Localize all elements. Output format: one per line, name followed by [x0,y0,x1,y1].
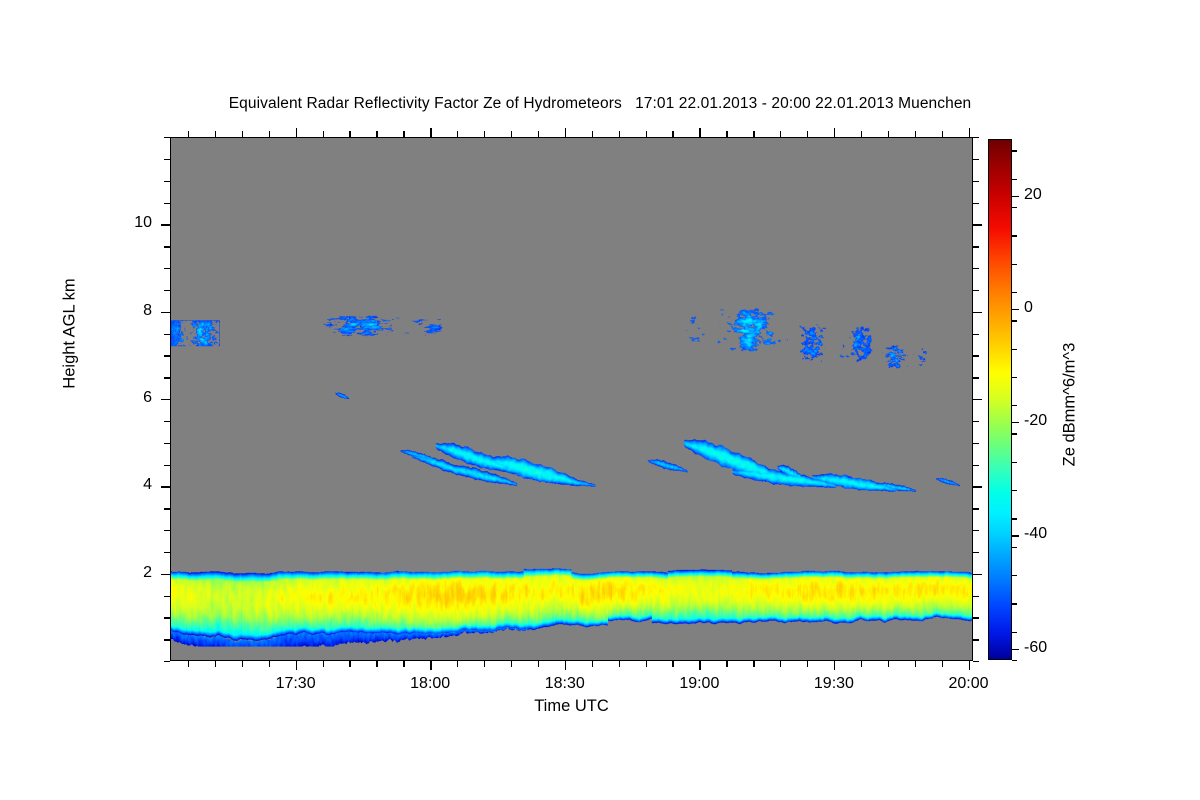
y-axis-label: Height AGL km [61,204,80,464]
y-axis-minor-tick [164,203,170,204]
colorbar-minor-tick [1012,433,1017,434]
x-axis-minor-tick [538,131,539,137]
y-axis-tick-label: 10 [92,214,152,232]
y-axis-major-tick [161,574,170,575]
colorbar-tick-label: 0 [1024,299,1033,317]
x-axis-minor-tick [242,131,243,137]
y-axis-minor-tick [164,268,170,269]
y-axis-major-tick [161,399,170,400]
colorbar [988,139,1012,660]
reflectivity-heatmap [171,138,972,660]
colorbar-minor-tick [1012,632,1017,633]
x-axis-major-tick [565,128,566,137]
y-axis-minor-tick [164,530,170,531]
y-axis-minor-tick [973,552,979,553]
colorbar-minor-tick [1012,349,1017,350]
y-axis-minor-tick [973,203,979,204]
y-axis-minor-tick [164,137,170,138]
x-axis-minor-tick [726,131,727,137]
y-axis-minor-tick [164,355,170,356]
y-axis-minor-tick [164,596,170,597]
x-axis-minor-tick [215,131,216,137]
colorbar-tick-label: -20 [1024,412,1047,430]
x-axis-minor-tick [592,661,593,667]
y-axis-minor-tick [164,246,170,247]
chart-title: Equivalent Radar Reflectivity Factor Ze … [0,95,1200,113]
x-axis-major-tick [430,128,431,137]
y-axis-minor-tick [973,465,979,466]
y-axis-minor-tick [973,181,979,182]
x-axis-minor-tick [753,131,754,137]
x-axis-tick-label: 18:30 [520,675,610,693]
x-axis-minor-tick [376,661,377,667]
x-axis-minor-tick [376,131,377,137]
y-axis-minor-tick [973,443,979,444]
x-axis-major-tick [969,128,970,137]
colorbar-tick-label: 20 [1024,186,1042,204]
x-axis-major-tick [565,661,566,670]
x-axis-minor-tick [888,661,889,667]
x-axis-tick-label: 19:00 [654,675,744,693]
x-axis-minor-tick [188,661,189,667]
colorbar-tick-label: -40 [1024,525,1047,543]
x-axis-minor-tick [915,131,916,137]
x-axis-major-tick [969,661,970,670]
y-axis-major-tick [973,399,982,400]
y-axis-minor-tick [164,421,170,422]
y-axis-minor-tick [164,377,170,378]
y-axis-minor-tick [164,443,170,444]
y-axis-minor-tick [973,617,979,618]
colorbar-minor-tick [1012,405,1017,406]
colorbar-minor-tick [1012,179,1017,180]
y-axis-minor-tick [164,334,170,335]
radar-reflectivity-figure: Equivalent Radar Reflectivity Factor Ze … [0,0,1200,800]
y-axis-major-tick [161,312,170,313]
x-axis-tick-label: 20:00 [924,675,1014,693]
y-axis-minor-tick [973,334,979,335]
colorbar-minor-tick [1012,377,1017,378]
colorbar-minor-tick [1012,292,1017,293]
x-axis-major-tick [430,661,431,670]
x-axis-tick-label: 19:30 [789,675,879,693]
colorbar-major-tick [1012,309,1019,310]
x-axis-minor-tick [457,131,458,137]
colorbar-minor-tick [1012,660,1017,661]
x-axis-minor-tick [484,661,485,667]
plot-area [170,137,973,661]
colorbar-minor-tick [1012,320,1017,321]
y-axis-minor-tick [973,159,979,160]
y-axis-minor-tick [164,465,170,466]
y-axis-minor-tick [973,596,979,597]
x-axis-major-tick [699,128,700,137]
y-axis-major-tick [973,574,982,575]
y-axis-minor-tick [164,639,170,640]
y-axis-minor-tick [973,246,979,247]
y-axis-minor-tick [164,159,170,160]
y-axis-minor-tick [973,137,979,138]
y-axis-minor-tick [973,508,979,509]
x-axis-minor-tick [888,131,889,137]
x-axis-major-tick [834,661,835,670]
x-axis-tick-label: 17:30 [251,675,341,693]
colorbar-label: Ze dBmm^6/m^3 [1061,255,1080,555]
y-axis-minor-tick [973,530,979,531]
x-axis-minor-tick [753,661,754,667]
colorbar-minor-tick [1012,518,1017,519]
x-axis-minor-tick [942,131,943,137]
x-axis-minor-tick [672,661,673,667]
y-axis-tick-label: 6 [92,389,152,407]
x-axis-minor-tick [780,661,781,667]
x-axis-minor-tick [215,661,216,667]
colorbar-minor-tick [1012,235,1017,236]
colorbar-minor-tick [1012,603,1017,604]
x-axis-minor-tick [646,131,647,137]
y-axis-minor-tick [973,290,979,291]
x-axis-minor-tick [403,661,404,667]
colorbar-major-tick [1012,422,1019,423]
x-axis-label: Time UTC [170,697,973,716]
colorbar-minor-tick [1012,150,1017,151]
colorbar-minor-tick [1012,490,1017,491]
y-axis-minor-tick [164,661,170,662]
y-axis-tick-label: 8 [92,302,152,320]
colorbar-minor-tick [1012,462,1017,463]
y-axis-minor-tick [164,290,170,291]
x-axis-major-tick [699,661,700,670]
x-axis-minor-tick [511,131,512,137]
x-axis-minor-tick [484,131,485,137]
x-axis-minor-tick [511,661,512,667]
x-axis-minor-tick [349,661,350,667]
x-axis-minor-tick [323,661,324,667]
x-axis-minor-tick [269,131,270,137]
x-axis-minor-tick [619,131,620,137]
x-axis-minor-tick [619,661,620,667]
y-axis-minor-tick [973,421,979,422]
x-axis-tick-label: 18:00 [385,675,475,693]
y-axis-major-tick [973,224,982,225]
y-axis-minor-tick [164,617,170,618]
y-axis-tick-label: 2 [92,564,152,582]
y-axis-minor-tick [973,639,979,640]
y-axis-minor-tick [164,552,170,553]
y-axis-minor-tick [164,181,170,182]
colorbar-major-tick [1012,649,1019,650]
x-axis-minor-tick [323,131,324,137]
x-axis-minor-tick [942,661,943,667]
colorbar-minor-tick [1012,547,1017,548]
y-axis-minor-tick [164,508,170,509]
x-axis-minor-tick [457,661,458,667]
x-axis-minor-tick [538,661,539,667]
y-axis-tick-label: 4 [92,476,152,494]
x-axis-minor-tick [592,131,593,137]
colorbar-minor-tick [1012,575,1017,576]
y-axis-minor-tick [973,268,979,269]
x-axis-minor-tick [726,661,727,667]
x-axis-minor-tick [807,661,808,667]
x-axis-minor-tick [915,661,916,667]
y-axis-major-tick [973,486,982,487]
x-axis-minor-tick [349,131,350,137]
x-axis-minor-tick [646,661,647,667]
y-axis-major-tick [161,224,170,225]
colorbar-tick-label: -60 [1024,639,1047,657]
x-axis-minor-tick [807,131,808,137]
colorbar-minor-tick [1012,207,1017,208]
colorbar-major-tick [1012,535,1019,536]
y-axis-minor-tick [973,355,979,356]
y-axis-major-tick [161,486,170,487]
y-axis-minor-tick [973,661,979,662]
x-axis-major-tick [296,128,297,137]
x-axis-minor-tick [188,131,189,137]
colorbar-major-tick [1012,196,1019,197]
x-axis-minor-tick [242,661,243,667]
x-axis-major-tick [834,128,835,137]
x-axis-minor-tick [780,131,781,137]
y-axis-major-tick [973,312,982,313]
y-axis-minor-tick [973,377,979,378]
x-axis-minor-tick [269,661,270,667]
x-axis-minor-tick [861,131,862,137]
x-axis-minor-tick [403,131,404,137]
colorbar-minor-tick [1012,264,1017,265]
x-axis-major-tick [296,661,297,670]
x-axis-minor-tick [861,661,862,667]
x-axis-minor-tick [672,131,673,137]
